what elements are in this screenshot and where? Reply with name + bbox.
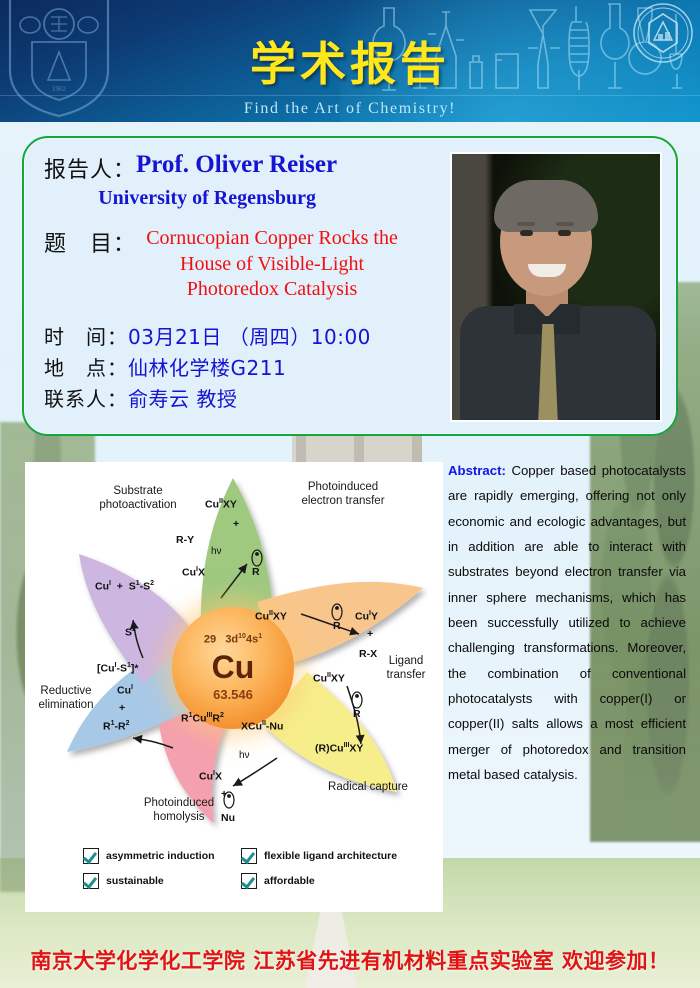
species-rx-orange: R-X: [359, 648, 377, 660]
contact-value: 俞寿云 教授: [128, 383, 237, 412]
species-r1cu3r2-blue: R1CuIIIR2: [181, 712, 224, 725]
species-hv-green: hν: [211, 546, 222, 557]
abstract-text: Copper based photocatalysts are rapidly …: [448, 463, 686, 782]
legend-item-asymmetric-induction: asymmetric induction: [83, 848, 241, 864]
species-nu-radical-pink: Nu: [221, 812, 235, 824]
species-cu1y-orange: CuIY: [355, 610, 378, 623]
header-subtitle: Find the Art of Chemistry!: [0, 100, 700, 118]
legend-row: asymmetric induction flexible ligand arc…: [83, 848, 413, 864]
checkbox-checked-icon: [241, 873, 257, 889]
species-s2-purple: S2: [125, 626, 136, 639]
species-hv-pink: hν: [239, 750, 250, 761]
seminar-info-card: 报告人： Prof. Oliver Reiser University of R…: [22, 136, 678, 436]
species-plus-orange: +: [367, 628, 373, 640]
sector-label-substrate-photoactivation: Substratephotoactivation: [83, 484, 193, 513]
species-r-radical-yellow: R: [353, 708, 361, 720]
legend-item-flexible-ligand-architecture: flexible ligand architecture: [241, 848, 397, 864]
contact-row: 联系人： 俞寿云 教授: [44, 383, 444, 412]
poster-header: 1902 学术报告: [0, 0, 700, 122]
sector-label-ligand-transfer: Ligandtransfer: [373, 654, 439, 683]
electron-configuration: 29 3d104s1: [172, 633, 294, 646]
abstract-block: Abstract: Copper based photocatalysts ar…: [448, 458, 686, 787]
checkbox-checked-icon: [241, 848, 257, 864]
species-plus-blue: +: [119, 702, 125, 714]
legend-item-affordable: affordable: [241, 873, 315, 889]
config-3d: 3d: [225, 634, 238, 646]
place-label: 地 点：: [44, 352, 128, 381]
species-cu1s1-excited-purple: [CuI-S1]*: [97, 662, 138, 675]
legend-label: sustainable: [106, 875, 164, 887]
talk-title-row: 题 目： Cornucopian Copper Rocks the House …: [44, 226, 444, 303]
page-title: 学术报告: [0, 28, 700, 94]
species-r-radical-green: R: [252, 566, 260, 578]
footer-text: 南京大学化学化工学院 江苏省先进有机材料重点实验室 欢迎参加！: [30, 945, 669, 975]
species-r-radical-orange: R: [333, 620, 341, 632]
species-cu1-blue: CuI: [117, 684, 133, 697]
contact-label: 联系人：: [44, 383, 128, 412]
legend-label: asymmetric induction: [106, 850, 215, 862]
portrait-brow-right: [556, 222, 574, 226]
speaker-portrait: [450, 152, 662, 422]
copper-element-core: 29 3d104s1 Cu 63.546: [172, 607, 294, 729]
checkbox-checked-icon: [83, 873, 99, 889]
species-cu2xy-orange: CuIIXY: [255, 610, 287, 623]
legend-item-sustainable: sustainable: [83, 873, 241, 889]
talk-title: Cornucopian Copper Rocks the House of Vi…: [136, 226, 408, 303]
abstract-label: Abstract:: [448, 463, 506, 478]
sector-label-photoinduced-electron-transfer: Photoinducedelectron transfer: [283, 480, 403, 509]
species-ry-green: R-Y: [176, 534, 194, 546]
sector-label-reductive-elimination: Reductiveelimination: [29, 684, 103, 713]
portrait-eye-right: [558, 230, 571, 236]
copper-photocatalysis-diagram: 29 3d104s1 Cu 63.546 Photoinducedelectro…: [25, 462, 443, 912]
species-plus-pink: +: [221, 788, 227, 800]
diagram-legend: asymmetric induction flexible ligand arc…: [83, 848, 413, 898]
legend-row: sustainable affordable: [83, 873, 413, 889]
legend-label: affordable: [264, 875, 315, 887]
species-cu1-purple: CuI + S1-S2: [95, 580, 154, 593]
place-row: 地 点： 仙林化学楼G211: [44, 352, 444, 381]
portrait-eye-left: [520, 230, 533, 236]
species-xcu2nu-pink: XCuII-Nu: [241, 720, 283, 733]
species-cu1x-pink: CuIX: [199, 770, 222, 783]
talk-title-label: 题 目：: [44, 226, 136, 258]
config-4s: 4s: [246, 634, 258, 646]
species-cu2xy-yellow: CuIIXY: [313, 672, 345, 685]
place-value: 仙林化学楼G211: [128, 352, 286, 381]
species-r-cu3xy-yellow: (R)CuIIIXY: [315, 742, 363, 755]
time-value: 03月21日 （周四）10:00: [128, 321, 371, 350]
sector-label-radical-capture: Radical capture: [313, 780, 423, 794]
atomic-number: 29: [204, 634, 216, 646]
species-cu1x-green: CuIX: [182, 566, 205, 579]
seminar-meta: 时 间： 03月21日 （周四）10:00 地 点： 仙林化学楼G211 联系人…: [44, 321, 444, 412]
element-symbol: Cu: [172, 651, 294, 683]
time-row: 时 间： 03月21日 （周四）10:00: [44, 321, 444, 350]
seminar-poster: 1902 学术报告: [0, 0, 700, 988]
sector-label-photoinduced-homolysis: Photoinducedhomolysis: [125, 796, 233, 825]
speaker-name: Prof. Oliver Reiser: [136, 152, 337, 178]
speaker-affiliation: University of Regensburg: [44, 187, 316, 210]
config-4s-exp: 1: [258, 633, 262, 640]
species-r1r2-blue: R1-R2: [103, 720, 130, 733]
portrait-hair: [494, 180, 598, 232]
portrait-brow-left: [517, 222, 535, 226]
time-label: 时 间：: [44, 321, 128, 350]
config-3d-exp: 10: [238, 633, 246, 640]
poster-footer: 南京大学化学化工学院 江苏省先进有机材料重点实验室 欢迎参加！: [0, 932, 700, 988]
species-plus-green: +: [233, 518, 239, 530]
speaker-label: 报告人：: [44, 152, 136, 184]
seminar-details: 报告人： Prof. Oliver Reiser University of R…: [44, 152, 444, 414]
checkbox-checked-icon: [83, 848, 99, 864]
legend-label: flexible ligand architecture: [264, 850, 397, 862]
speaker-row: 报告人： Prof. Oliver Reiser: [44, 152, 444, 184]
species-cu2xy-green: CuIIXY: [205, 498, 237, 511]
atomic-mass: 63.546: [172, 687, 294, 702]
